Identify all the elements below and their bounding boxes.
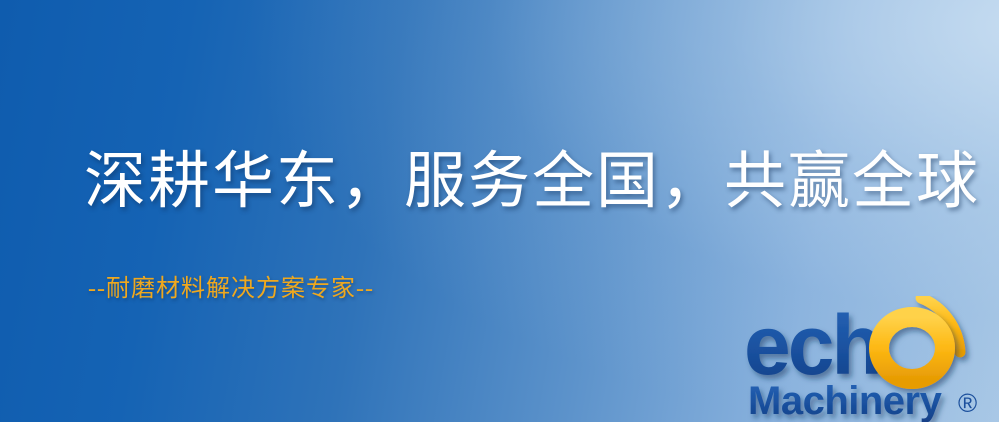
banner-headline: 深耕华东，服务全国，共赢全球 [84,150,980,215]
registered-trademark-icon: ® [958,388,977,418]
gold-letter-o-icon [879,317,945,379]
svg-text:®: ® [958,388,977,418]
svg-text:Machinery: Machinery [748,379,943,422]
logo-subword-machinery: Machinery [748,379,943,422]
svg-text:ech: ech [744,298,880,392]
banner-subtitle: --耐磨材料解决方案专家-- [88,268,374,303]
logo-wordmark-echo: ech [744,298,880,392]
echo-machinery-logo[interactable]: ech Machinery ® [744,296,999,422]
promo-banner: 深耕华东，服务全国，共赢全球 --耐磨材料解决方案专家-- [0,0,999,422]
